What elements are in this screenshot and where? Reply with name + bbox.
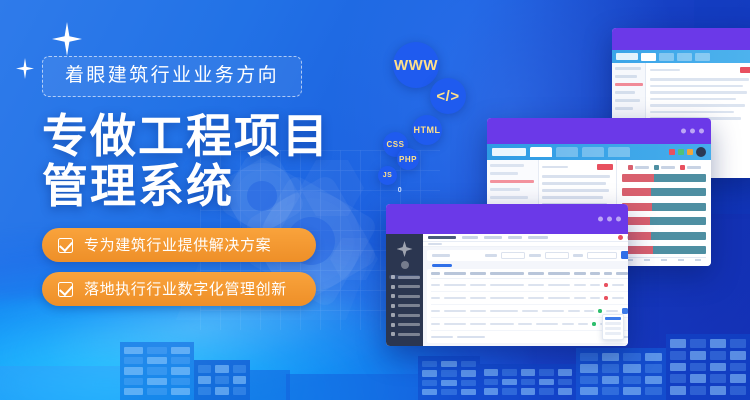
new-record-button[interactable]	[432, 264, 452, 268]
sidebar-item[interactable]	[615, 107, 633, 110]
avatar[interactable]	[696, 147, 706, 157]
sidebar-item-dashboard[interactable]	[389, 275, 420, 279]
table-row[interactable]	[431, 305, 628, 318]
topbar-item[interactable]	[528, 236, 548, 239]
legend-swatch	[654, 165, 659, 170]
list-item[interactable]	[542, 189, 609, 192]
table-row[interactable]	[431, 279, 628, 292]
tech-bubble-php: PHP	[397, 148, 419, 170]
filter-label	[529, 254, 541, 257]
table-row[interactable]	[431, 292, 628, 305]
window-controls[interactable]	[681, 129, 704, 134]
chart-legend	[622, 165, 706, 170]
page-title: 专做工程项目 管理系统	[42, 111, 372, 211]
axis-tick	[678, 259, 684, 261]
bar-row	[622, 246, 706, 254]
tree-item[interactable]	[490, 196, 528, 199]
sidebar-item-materials[interactable]	[389, 313, 420, 317]
chart-x-axis	[622, 257, 706, 262]
context-menu[interactable]	[602, 314, 624, 340]
record-count	[431, 336, 453, 339]
sidebar-item-contracts[interactable]	[389, 294, 420, 298]
headline-block: 着眼建筑行业业务方向 专做工程项目 管理系统 专为建筑行业提供解决方案 落地执行…	[42, 56, 372, 316]
status-badge	[592, 322, 596, 326]
box-icon	[391, 313, 395, 317]
context-menu-item-4[interactable]	[605, 332, 621, 335]
sidebar-item-finance[interactable]	[389, 304, 420, 308]
list-item[interactable]	[650, 78, 749, 81]
filter-label	[485, 254, 497, 257]
window-close-icon[interactable]	[616, 217, 621, 222]
tech-bubble-code: </>	[430, 78, 466, 114]
topbar-title	[428, 236, 456, 239]
window-controls[interactable]	[598, 217, 621, 222]
app-logo	[492, 148, 526, 156]
sidebar-item[interactable]	[615, 67, 641, 70]
checkbox-checked-icon	[58, 282, 73, 297]
bar-row	[622, 232, 706, 240]
window-titlebar	[386, 204, 628, 234]
headline-line-1: 专做工程项目	[42, 111, 372, 161]
headline-line-2: 管理系统	[42, 161, 372, 211]
topbar-item[interactable]	[508, 236, 522, 239]
context-menu-item-3[interactable]	[605, 327, 621, 330]
axis-tick	[627, 259, 633, 261]
sidebar-item-staff[interactable]	[389, 323, 420, 327]
list-item[interactable]	[650, 104, 745, 107]
sidebar-item-selected[interactable]	[615, 83, 643, 86]
window-titlebar	[487, 118, 711, 144]
window-titlebar	[612, 28, 750, 50]
legend-swatch	[680, 165, 685, 170]
table-footer	[431, 331, 628, 340]
tree-item[interactable]	[490, 188, 520, 191]
data-table	[427, 269, 628, 343]
window-minimize-icon[interactable]	[681, 129, 686, 134]
legend-label	[661, 166, 675, 169]
tree-item[interactable]	[490, 172, 518, 175]
sidebar-item[interactable]	[615, 75, 637, 78]
list-item[interactable]	[542, 196, 603, 199]
topbar-item[interactable]	[462, 236, 478, 239]
filter-label	[432, 254, 450, 257]
axis-tick	[661, 259, 667, 261]
folder-icon	[391, 285, 395, 289]
list-item[interactable]	[650, 91, 747, 94]
search-input[interactable]	[587, 252, 617, 259]
selection-info	[457, 336, 485, 339]
breadcrumb	[423, 242, 628, 247]
feature-pill-1[interactable]: 专为建筑行业提供解决方案	[42, 228, 316, 262]
bar-row	[622, 203, 706, 211]
app-logo	[616, 53, 638, 60]
user-menu[interactable]	[627, 236, 628, 239]
row-action-button[interactable]	[628, 282, 629, 288]
table-row[interactable]	[431, 318, 628, 331]
primary-action-button[interactable]	[740, 67, 750, 73]
sidebar-item-projects[interactable]	[389, 285, 420, 289]
sidebar-item[interactable]	[615, 99, 640, 102]
tab-4[interactable]	[695, 53, 710, 61]
context-menu-item-2[interactable]	[605, 322, 621, 325]
window-close-icon[interactable]	[699, 129, 704, 134]
message-icon[interactable]	[678, 149, 684, 155]
tab-3[interactable]	[677, 53, 692, 61]
gear-icon	[391, 332, 395, 336]
checkbox-checked-icon	[58, 238, 73, 253]
tree-item[interactable]	[490, 164, 524, 167]
list-item[interactable]	[650, 98, 736, 101]
legend-entry-3	[680, 165, 701, 170]
panel-title	[650, 69, 680, 72]
filter-select[interactable]	[501, 252, 525, 259]
window-maximize-icon[interactable]	[690, 129, 695, 134]
content-area	[423, 234, 628, 346]
sidebar-item-settings[interactable]	[389, 332, 420, 336]
tagline-box: 着眼建筑行业业务方向	[42, 56, 302, 97]
context-menu-item-1[interactable]	[605, 317, 621, 320]
bar-row	[622, 174, 706, 182]
bar-chart	[617, 160, 711, 266]
bar-row	[622, 217, 706, 225]
collapse-toggle-icon[interactable]	[401, 261, 409, 269]
tech-bubble-zero: 0	[393, 183, 407, 197]
legend-swatch	[628, 165, 633, 170]
tagline-text: 着眼建筑行业业务方向	[65, 65, 279, 86]
tab-2[interactable]	[556, 147, 578, 157]
feature-list: 专为建筑行业提供解决方案 落地执行行业数字化管理创新	[42, 228, 372, 306]
alert-icon[interactable]	[669, 149, 675, 155]
tab-1[interactable]	[641, 53, 656, 61]
chart-icon	[391, 304, 395, 308]
tree-item-selected[interactable]	[490, 180, 534, 183]
tab-1[interactable]	[530, 147, 552, 157]
list-item[interactable]	[542, 182, 606, 185]
window-maximize-icon[interactable]	[607, 217, 612, 222]
app-header	[612, 50, 750, 63]
app-header	[487, 144, 711, 160]
header-icons[interactable]	[669, 147, 706, 157]
legend-label	[687, 166, 701, 169]
feature-pill-2[interactable]: 落地执行行业数字化管理创新	[42, 272, 316, 306]
axis-tick	[644, 259, 650, 261]
filter-label	[573, 254, 583, 257]
tab-4[interactable]	[608, 147, 630, 157]
list-item[interactable]	[542, 175, 610, 178]
sidebar-item[interactable]	[615, 91, 635, 94]
dashboard-icon	[391, 275, 395, 279]
axis-tick	[695, 259, 701, 261]
legend-label	[635, 166, 649, 169]
status-badge	[604, 283, 608, 287]
feature-pill-2-label: 落地执行行业数字化管理创新	[84, 282, 287, 297]
bell-icon[interactable]	[687, 149, 693, 155]
row-action-button[interactable]	[628, 295, 629, 301]
tech-bubble-html: HTML	[412, 115, 442, 145]
topbar	[423, 234, 628, 242]
status-badge	[598, 309, 602, 313]
bar-row	[622, 188, 706, 196]
filter-toolbar	[427, 250, 628, 261]
legend-entry-1	[628, 165, 649, 170]
tech-bubble-js: JS	[378, 166, 397, 185]
sparkle-icon-1	[52, 22, 82, 56]
document-icon	[391, 294, 395, 298]
sidebar[interactable]	[386, 234, 423, 346]
promo-banner: 着眼建筑行业业务方向 专做工程项目 管理系统 专为建筑行业提供解决方案 落地执行…	[0, 0, 750, 400]
filter-select[interactable]	[545, 252, 569, 259]
tech-bubble-www: WWW	[393, 42, 439, 88]
breadcrumb-item[interactable]	[428, 243, 442, 245]
tab-2[interactable]	[659, 53, 674, 61]
app-logo-icon	[397, 241, 413, 257]
delete-button[interactable]	[597, 164, 613, 170]
search-button[interactable]	[621, 251, 628, 259]
dashboard-window-front[interactable]	[386, 204, 628, 346]
chart-plot-area	[622, 174, 706, 254]
window-minimize-icon[interactable]	[598, 217, 603, 222]
list-item[interactable]	[650, 85, 743, 88]
topbar-item[interactable]	[484, 236, 502, 239]
sparkle-icon-2	[16, 58, 34, 79]
list-title	[542, 166, 568, 169]
list-item[interactable]	[650, 111, 734, 114]
app-body	[386, 234, 628, 346]
user-icon	[391, 323, 395, 327]
feature-pill-1-label: 专为建筑行业提供解决方案	[84, 238, 271, 253]
notification-badge[interactable]	[618, 235, 623, 240]
tab-3[interactable]	[582, 147, 604, 157]
status-badge	[604, 296, 608, 300]
legend-entry-2	[654, 165, 675, 170]
